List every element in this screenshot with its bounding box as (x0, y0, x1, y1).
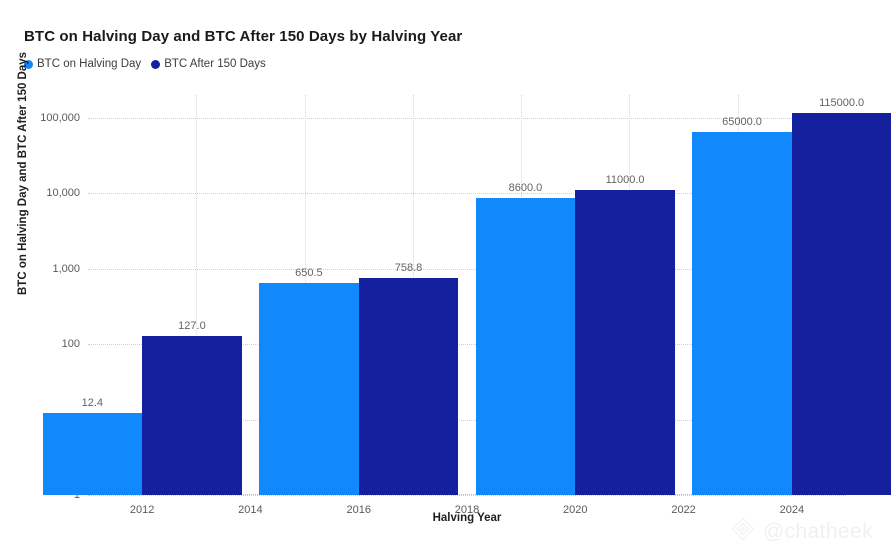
bar-value-label: 12.4 (82, 397, 103, 409)
bar-2020-series-1[interactable]: 11000.0 (575, 190, 675, 495)
x-axis-title: Halving Year (88, 512, 846, 524)
bar-2024-series-1[interactable]: 115000.0 (792, 113, 891, 495)
bar-value-label: 8600.0 (509, 182, 543, 194)
bar-value-label: 11000.0 (606, 174, 645, 186)
chart-title: BTC on Halving Day and BTC After 150 Day… (24, 28, 462, 45)
bar-value-label: 127.0 (178, 320, 206, 332)
chart-legend: BTC on Halving Day BTC After 150 Days (24, 58, 266, 70)
bar-value-label: 115000.0 (819, 97, 864, 109)
bar-2012-series-1[interactable]: 127.0 (142, 336, 242, 495)
y-axis-title: BTC on Halving Day and BTC After 150 Day… (17, 52, 29, 295)
bar-2012-series-0[interactable]: 12.4 (43, 413, 143, 496)
bar-value-label: 650.5 (295, 267, 323, 279)
legend-color-swatch-series-1 (151, 60, 160, 69)
legend-label-series-0: BTC on Halving Day (37, 58, 141, 70)
bar-value-label: 758.8 (395, 262, 423, 274)
bar-2024-series-0[interactable]: 65000.0 (692, 132, 792, 495)
y-axis-tick-label: 10,000 (46, 187, 80, 199)
gridline-horizontal (88, 495, 846, 496)
y-axis-tick-label: 100 (62, 338, 80, 350)
bar-2016-series-1[interactable]: 758.8 (359, 278, 459, 495)
legend-item-btc-on-halving-day[interactable]: BTC on Halving Day (24, 58, 141, 70)
bar-value-label: 65000.0 (722, 116, 762, 128)
bar-2016-series-0[interactable]: 650.5 (259, 283, 359, 495)
y-axis-tick-label: 1,000 (52, 263, 80, 275)
bar-2020-series-0[interactable]: 8600.0 (476, 198, 576, 495)
y-axis-tick-label: 100,000 (40, 112, 80, 124)
legend-item-btc-after-150-days[interactable]: BTC After 150 Days (151, 58, 266, 70)
plot-area: 1101001,00010,000100,000 201220142016201… (88, 95, 846, 495)
legend-label-series-1: BTC After 150 Days (164, 58, 266, 70)
